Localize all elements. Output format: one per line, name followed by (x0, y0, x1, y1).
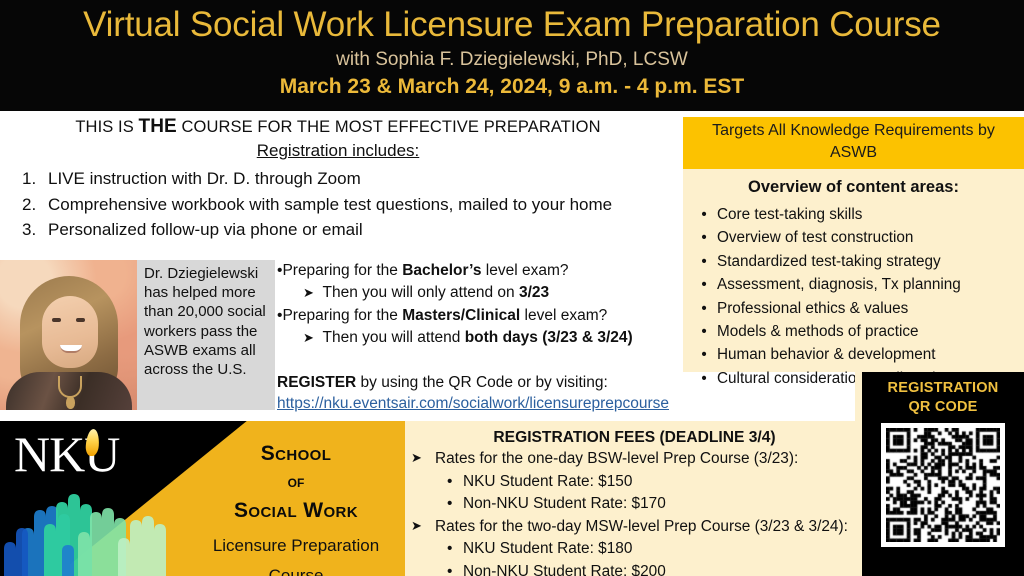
qr-title-line2: QR CODE (862, 398, 1024, 417)
nku-wordmark: NKU (14, 427, 119, 481)
list-item-label: Assessment, diagnosis, Tx planning (717, 273, 961, 296)
sub-emphasis: 3/23 (519, 284, 549, 301)
arrow-icon: ➤ (411, 516, 435, 539)
photo-face-shape (42, 296, 98, 368)
arrow-icon: ➤ (303, 286, 314, 301)
list-item-label: Core test-taking skills (717, 203, 862, 226)
registration-includes-text: Registration includes: (257, 141, 420, 160)
fees-group-heading: ➤ Rates for the one-day BSW-level Prep C… (411, 448, 858, 471)
presenter-card: Dr. Dziegielewski has helped more than 2… (0, 260, 275, 410)
fees-row-label: Non-NKU Student Rate: $170 (463, 493, 666, 516)
list-item-number: 1. (22, 166, 48, 192)
fees-row: • Non-NKU Student Rate: $170 (411, 493, 858, 516)
list-item: •Preparing for the Bachelor’s level exam… (277, 260, 689, 282)
fees-row: • NKU Student Rate: $150 (411, 471, 858, 494)
list-item: 3. Personalized follow-up via phone or e… (22, 217, 676, 243)
school-name-block: School of Social Work Licensure Preparat… (196, 439, 396, 576)
school-line-1: School (196, 439, 396, 468)
list-item: • Human behavior & development (691, 343, 1024, 366)
bullet-glyph: • (691, 367, 717, 390)
list-item-label: Personalized follow-up via phone or emai… (48, 217, 363, 243)
qr-title-line1: REGISTRATION (862, 379, 1024, 398)
school-line-2: of (196, 468, 396, 496)
registration-fees-panel: REGISTRATION FEES (DEADLINE 3/4) ➤ Rates… (405, 421, 862, 576)
content-areas-panel: Targets All Knowledge Requirements by AS… (683, 117, 1024, 372)
register-instruction: REGISTER by using the QR Code or by visi… (277, 372, 689, 393)
fees-row: • Non-NKU Student Rate: $200 (411, 561, 858, 576)
bullet-glyph: • (691, 320, 717, 343)
course-subtitle: Licensure Preparation Course (196, 531, 396, 576)
dates-line: March 23 & March 24, 2024, 9 a.m. - 4 p.… (0, 73, 1024, 100)
content-areas-list: • Core test-taking skills • Overview of … (683, 203, 1024, 390)
intro-headline: THIS IS THE COURSE FOR THE MOST EFFECTIV… (0, 116, 676, 138)
list-item-label: Standardized test-taking strategy (717, 250, 941, 273)
list-item: • Core test-taking skills (691, 203, 1024, 226)
list-item: • Professional ethics & values (691, 297, 1024, 320)
intro-headline-after: COURSE FOR THE MOST EFFECTIVE PREPARATIO… (177, 118, 601, 136)
fees-row-label: NKU Student Rate: $180 (463, 538, 632, 561)
fees-row-label: NKU Student Rate: $150 (463, 471, 632, 494)
qr-code-canvas[interactable] (886, 428, 1000, 542)
list-item-sub: ➤ Then you will only attend on 3/23 (277, 282, 689, 305)
presenter-line: with Sophia F. Dziegielewski, PhD, LCSW (0, 47, 1024, 72)
list-item-label: LIVE instruction with Dr. D. through Zoo… (48, 166, 361, 192)
qr-panel-title: REGISTRATION QR CODE (862, 372, 1024, 417)
fees-group-label: Rates for the one-day BSW-level Prep Cou… (435, 448, 798, 471)
nku-logo-block: NKU School of Social Work Licensure Prep… (0, 421, 398, 576)
list-item: • Overview of test construction (691, 226, 1024, 249)
bullet-glyph: • (447, 493, 463, 516)
bullet-glyph: • (691, 273, 717, 296)
list-item-label: Professional ethics & values (717, 297, 908, 320)
register-keyword: REGISTER (277, 374, 356, 391)
list-item-label: Models & methods of practice (717, 320, 919, 343)
list-item-label: Comprehensive workbook with sample test … (48, 192, 612, 218)
list-item-sub: ➤ Then you will attend both days (3/23 &… (277, 327, 689, 350)
exam-level-section: •Preparing for the Bachelor’s level exam… (277, 260, 689, 414)
list-item-number: 3. (22, 217, 48, 243)
registration-includes-label: Registration includes: (0, 138, 676, 164)
presenter-caption: Dr. Dziegielewski has helped more than 2… (137, 260, 275, 410)
fees-row-label: Non-NKU Student Rate: $200 (463, 561, 666, 576)
list-item: • Models & methods of practice (691, 320, 1024, 343)
arrow-icon: ➤ (303, 331, 314, 346)
photo-eye-left (52, 318, 61, 322)
page-title: Virtual Social Work Licensure Exam Prepa… (0, 3, 1024, 47)
photo-pendant (66, 396, 75, 409)
intro-headline-emphasis: THE (139, 116, 177, 137)
register-block: REGISTER by using the QR Code or by visi… (277, 372, 689, 414)
fees-title: REGISTRATION FEES (DEADLINE 3/4) (411, 427, 858, 448)
list-item: 1. LIVE instruction with Dr. D. through … (22, 166, 676, 192)
sub-prefix: Then you will attend (323, 329, 465, 346)
sub-emphasis: both (465, 329, 499, 346)
fees-row: • NKU Student Rate: $180 (411, 538, 858, 561)
fees-accent-stripe (398, 421, 405, 576)
qr-code-image[interactable] (881, 423, 1005, 547)
bullet-glyph: • (447, 538, 463, 561)
intro-headline-before: THIS IS (75, 118, 138, 136)
bullet-glyph: • (447, 471, 463, 494)
sub-prefix: Then you will only attend on (323, 284, 519, 301)
school-line-3: Social Work (196, 496, 396, 525)
bullet-emphasis: Bachelor’s (402, 262, 481, 279)
bullet-glyph: • (447, 561, 463, 576)
list-item-label: Overview of test construction (717, 226, 913, 249)
bullet-prefix: Preparing for the (282, 307, 402, 324)
bullet-prefix: Preparing for the (282, 262, 402, 279)
bullet-glyph: • (691, 250, 717, 273)
bullet-suffix: level exam? (520, 307, 607, 324)
photo-eye-right (76, 318, 85, 322)
poster-slide: Virtual Social Work Licensure Exam Prepa… (0, 0, 1024, 576)
sub-suffix: days (3/23 & 3/24) (498, 329, 632, 346)
content-panel-header: Targets All Knowledge Requirements by AS… (683, 117, 1024, 169)
bullet-suffix: level exam? (481, 262, 568, 279)
qr-code-panel: REGISTRATION QR CODE (862, 372, 1024, 576)
register-rest: by using the QR Code or by visiting: (356, 374, 608, 391)
list-item: 2. Comprehensive workbook with sample te… (22, 192, 676, 218)
fees-group-label: Rates for the two-day MSW-level Prep Cou… (435, 516, 848, 539)
presenter-photo (0, 260, 137, 410)
registration-link[interactable]: https://nku.eventsair.com/socialwork/lic… (277, 393, 689, 414)
bullet-glyph: • (691, 297, 717, 320)
list-item-label: Human behavior & development (717, 343, 936, 366)
bullet-glyph: • (691, 343, 717, 366)
list-item-number: 2. (22, 192, 48, 218)
arrow-icon: ➤ (411, 448, 435, 471)
list-item: • Assessment, diagnosis, Tx planning (691, 273, 1024, 296)
content-panel-subheader: Overview of content areas: (683, 169, 1024, 199)
list-item: • Standardized test-taking strategy (691, 250, 1024, 273)
registration-includes-list: 1. LIVE instruction with Dr. D. through … (22, 166, 676, 243)
bullet-emphasis: Masters/Clinical (402, 307, 520, 324)
list-item: •Preparing for the Masters/Clinical leve… (277, 305, 689, 327)
title-banner: Virtual Social Work Licensure Exam Prepa… (0, 0, 1024, 111)
intro-section: THIS IS THE COURSE FOR THE MOST EFFECTIV… (0, 116, 676, 243)
bullet-glyph: • (691, 203, 717, 226)
bullet-glyph: • (691, 226, 717, 249)
fees-group-heading: ➤ Rates for the two-day MSW-level Prep C… (411, 516, 858, 539)
